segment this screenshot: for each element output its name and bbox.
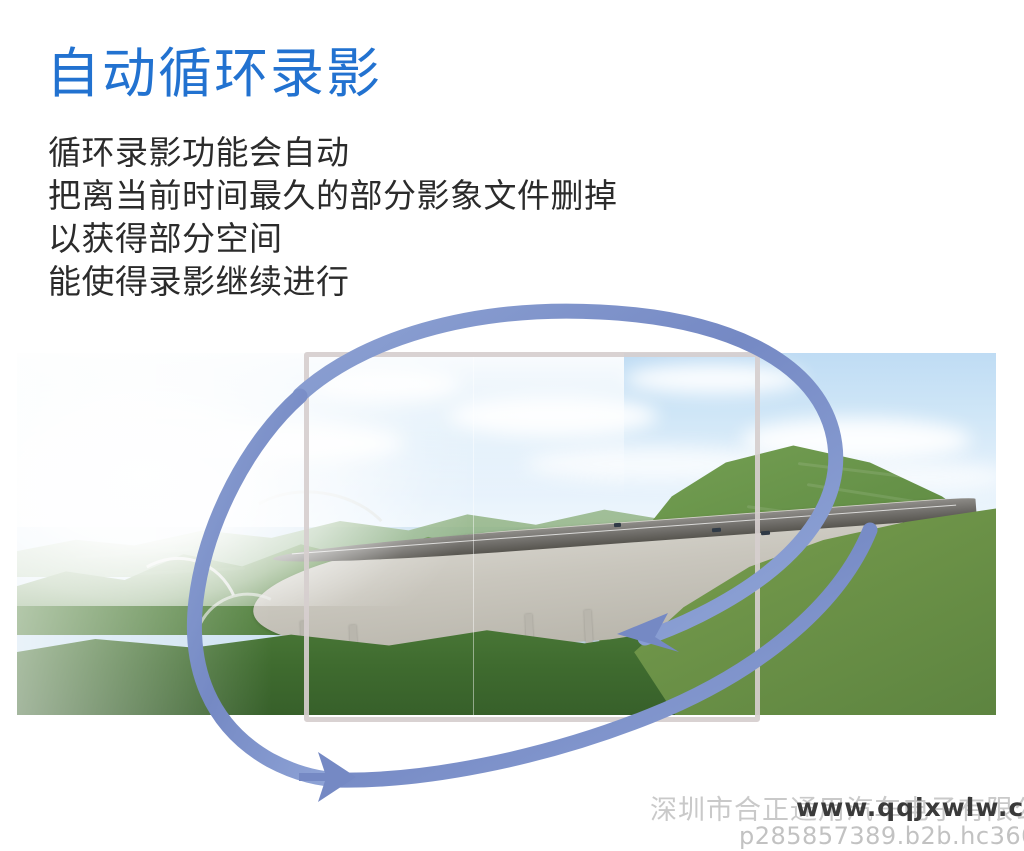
landscape-photo bbox=[17, 353, 996, 715]
vehicle bbox=[614, 523, 621, 527]
atmospheric-haze bbox=[17, 353, 467, 606]
body-text-block: 循环录影功能会自动 把离当前时间最久的部分影象文件删掉 以获得部分空间 能使得录… bbox=[48, 131, 618, 303]
page-title: 自动循环录影 bbox=[46, 44, 382, 104]
watermark-b2b-url: p285857389.b2b.hc360.com bbox=[739, 822, 1024, 850]
body-line-1: 循环录影功能会自动 bbox=[48, 131, 618, 174]
panorama-seam bbox=[473, 353, 474, 715]
cloud-shape bbox=[624, 364, 804, 394]
body-line-2: 把离当前时间最久的部分影象文件删掉 bbox=[48, 174, 618, 217]
slide-canvas: 自动循环录影 循环录影功能会自动 把离当前时间最久的部分影象文件删掉 以获得部分… bbox=[0, 0, 1024, 851]
body-line-4: 能使得录影继续进行 bbox=[48, 260, 618, 303]
body-line-3: 以获得部分空间 bbox=[48, 217, 618, 260]
photo-content bbox=[17, 353, 996, 715]
watermark-website: www.qqjxwlw.cn bbox=[796, 793, 1024, 823]
loop-arrow-head-lower bbox=[299, 752, 356, 802]
vehicle bbox=[761, 531, 770, 536]
